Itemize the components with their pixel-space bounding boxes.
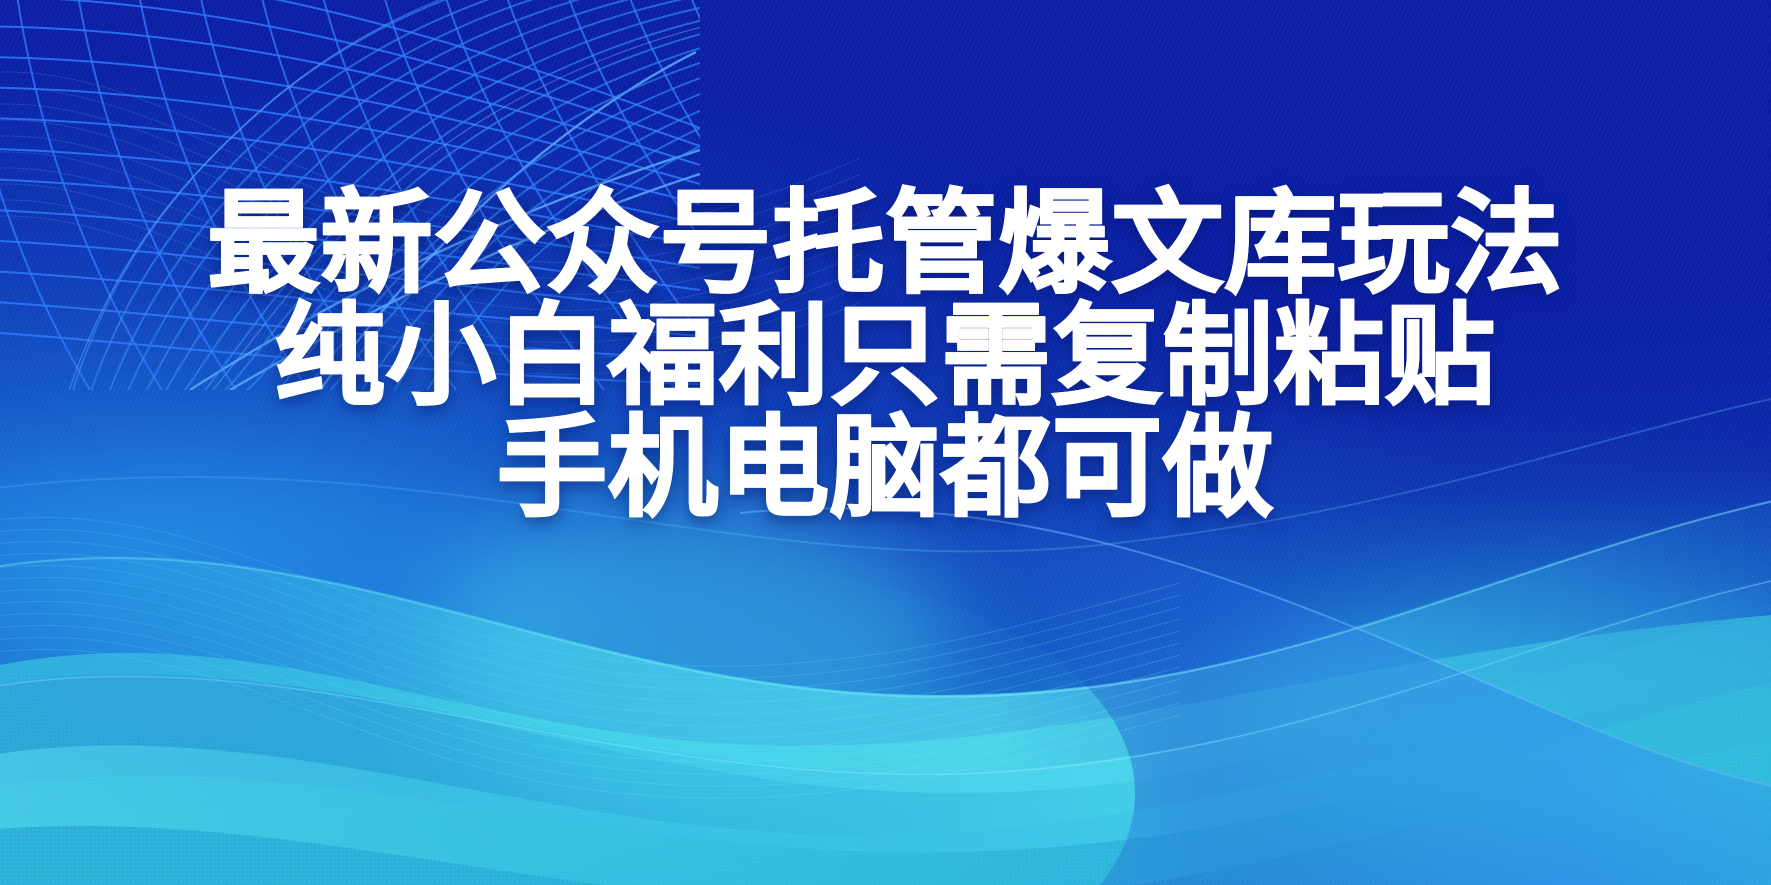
headline-line-3: 手机电脑都可做 [0, 412, 1771, 524]
promo-banner: 最新公众号托管爆文库玩法 纯小白福利只需复制粘贴 手机电脑都可做 [0, 0, 1771, 885]
glow-center [430, 495, 950, 795]
headline-line-2: 纯小白福利只需复制粘贴 [0, 300, 1771, 412]
headline-line-1: 最新公众号托管爆文库玩法 [0, 188, 1771, 300]
headline-block: 最新公众号托管爆文库玩法 纯小白福利只需复制粘贴 手机电脑都可做 [0, 188, 1771, 524]
glow-right [1231, 585, 1771, 845]
